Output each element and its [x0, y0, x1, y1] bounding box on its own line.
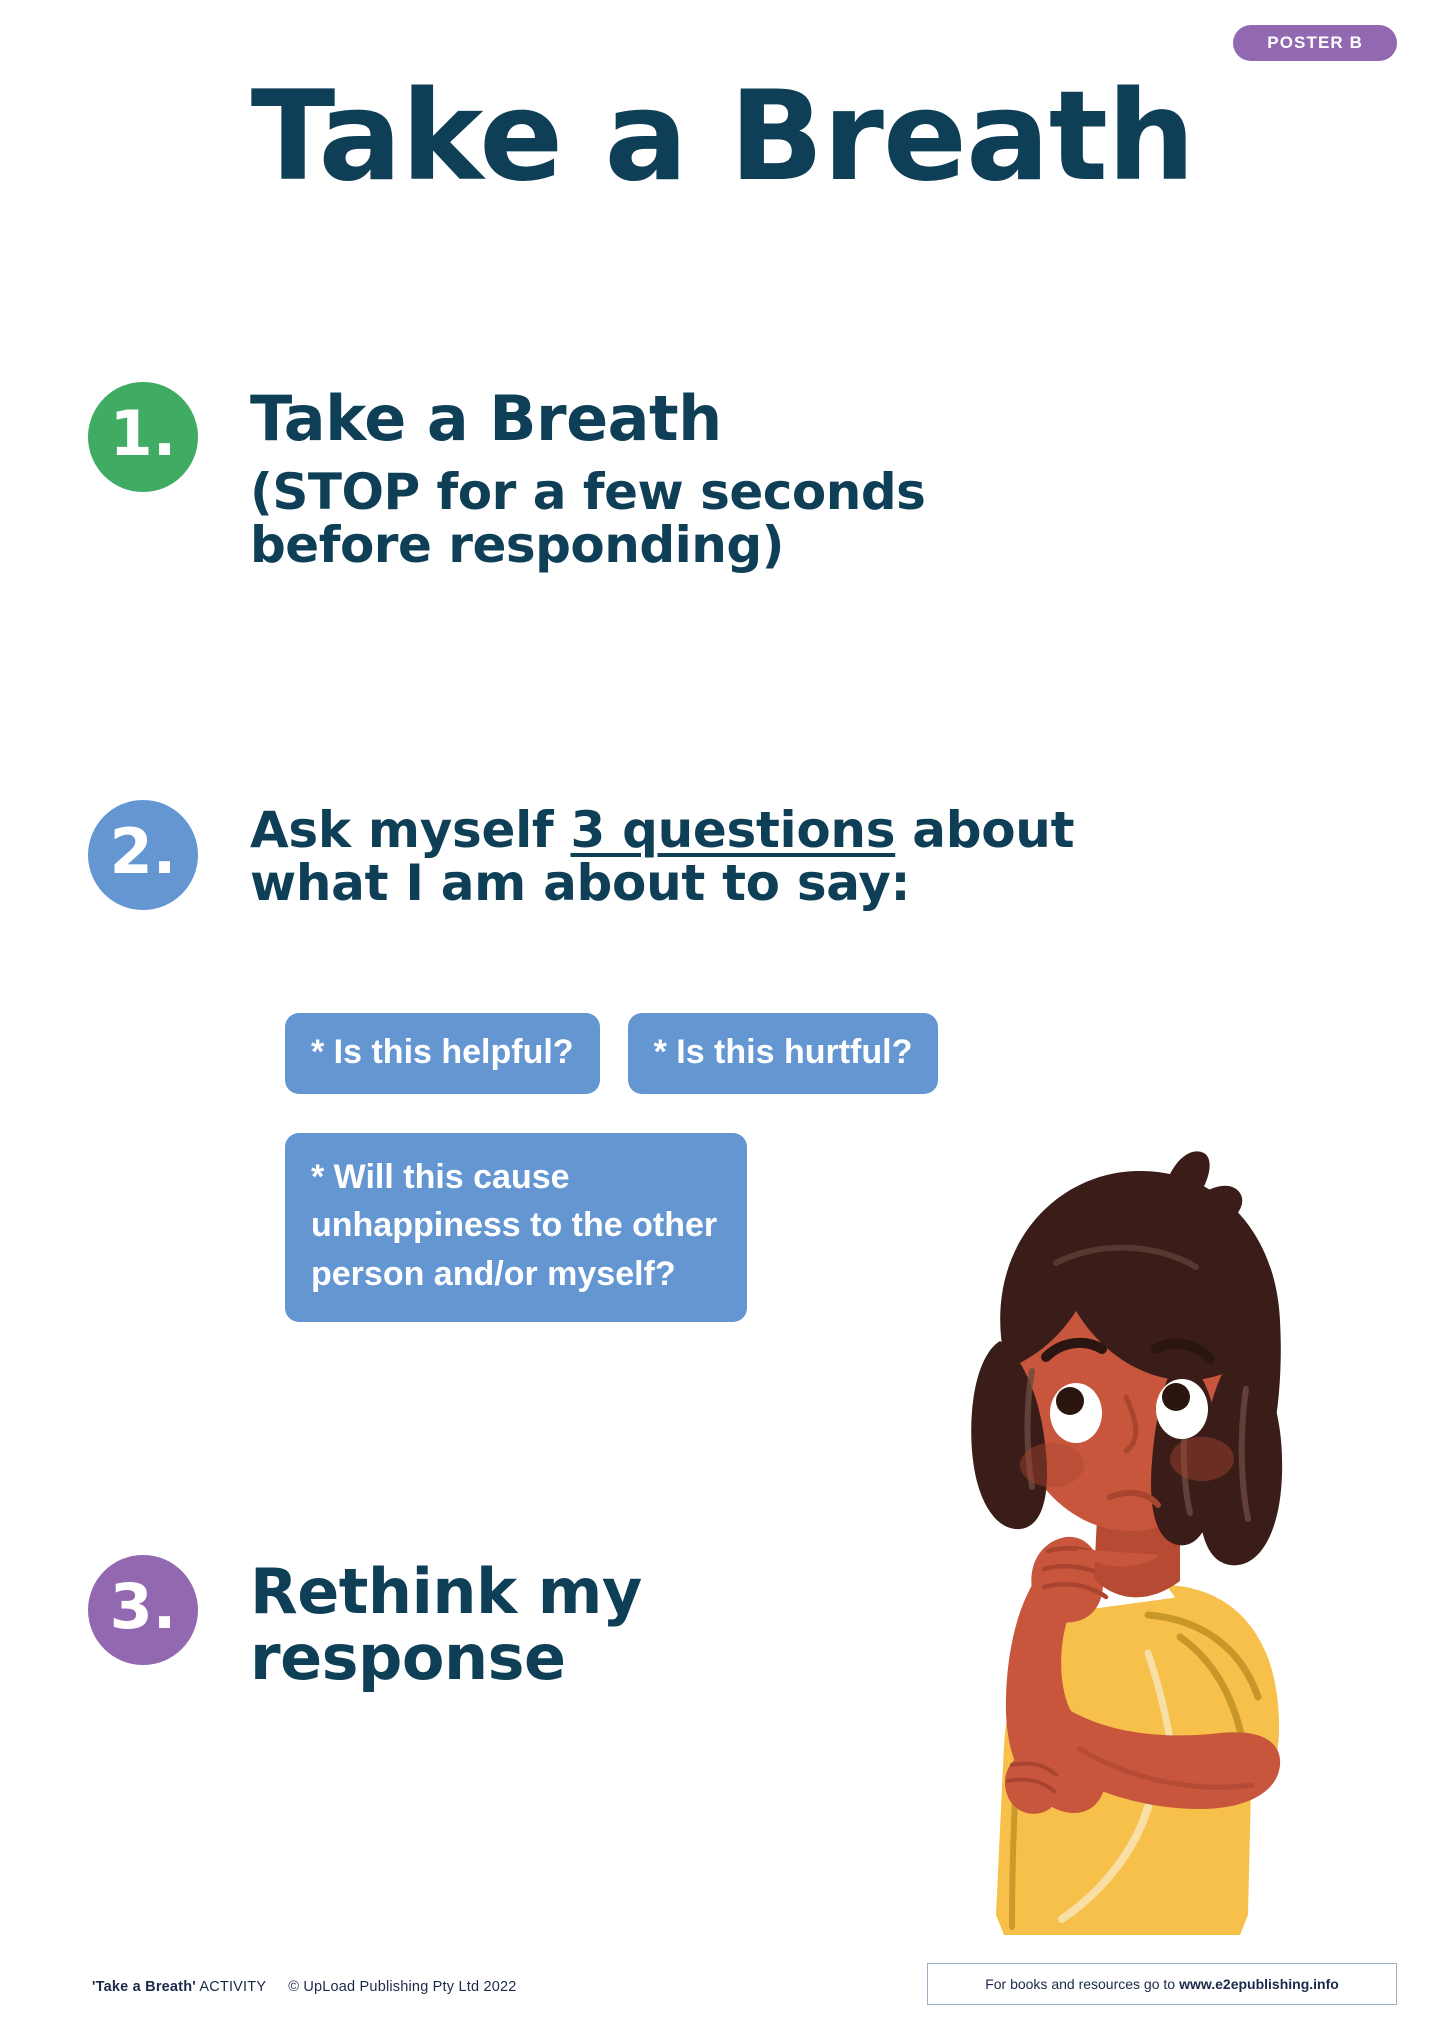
step-2-heading: Ask myself 3 questions about [250, 804, 1074, 857]
footer-copyright: 'Take a Breath' ACTIVITY© UpLoad Publish… [92, 1979, 517, 1995]
step-1-subtext-line-2: before responding) [250, 519, 925, 572]
step-2: 2. Ask myself 3 questions about what I a… [88, 800, 1368, 910]
step-3-text: Rethink my response [250, 1559, 642, 1690]
step-2-heading-prefix: Ask myself [250, 801, 570, 859]
question-card-unhappiness: * Will this cause unhappiness to the oth… [285, 1133, 747, 1322]
step-2-heading-emphasis: 3 questions [570, 801, 895, 859]
footer-promo-url[interactable]: www.e2epublishing.info [1179, 1976, 1339, 1992]
poster-page: POSTER B Take a Breath 1. Take a Breath … [0, 0, 1445, 2043]
question-card-row: * Is this helpful? * Is this hurtful? [285, 1013, 938, 1094]
step-1-subtext: (STOP for a few seconds before respondin… [250, 466, 925, 572]
step-1-subtext-line-1: (STOP for a few seconds [250, 466, 925, 519]
footer-activity: ACTIVITY [196, 1979, 266, 1995]
step-1-number-badge: 1. [88, 382, 198, 492]
thinking-child-illustration [880, 1145, 1340, 1935]
question-card-hurtful: * Is this hurtful? [628, 1013, 939, 1094]
step-1: 1. Take a Breath (STOP for a few seconds… [88, 382, 1348, 572]
step-3-number-badge: 3. [88, 1555, 198, 1665]
poster-badge: POSTER B [1233, 25, 1397, 61]
step-1-text: Take a Breath (STOP for a few seconds be… [250, 386, 925, 572]
page-title: Take a Breath [0, 72, 1445, 202]
step-2-heading-line-2: what I am about to say: [250, 857, 1074, 910]
question-card-helpful: * Is this helpful? [285, 1013, 600, 1094]
footer-promo-box: For books and resources go towww.e2epubl… [927, 1963, 1397, 2005]
step-2-number-badge: 2. [88, 800, 198, 910]
footer-brand: 'Take a Breath' [92, 1979, 196, 1995]
step-2-text: Ask myself 3 questions about what I am a… [250, 804, 1074, 910]
step-1-heading: Take a Breath [250, 386, 925, 452]
footer-promo-text: For books and resources go to [985, 1976, 1175, 1992]
step-3: 3. Rethink my response [88, 1555, 968, 1690]
step-2-heading-suffix: about [895, 801, 1074, 859]
step-3-heading-line-2: response [250, 1625, 642, 1691]
step-3-heading-line-1: Rethink my [250, 1559, 642, 1625]
footer-copyright-text: © UpLoad Publishing Pty Ltd 2022 [288, 1979, 516, 1995]
